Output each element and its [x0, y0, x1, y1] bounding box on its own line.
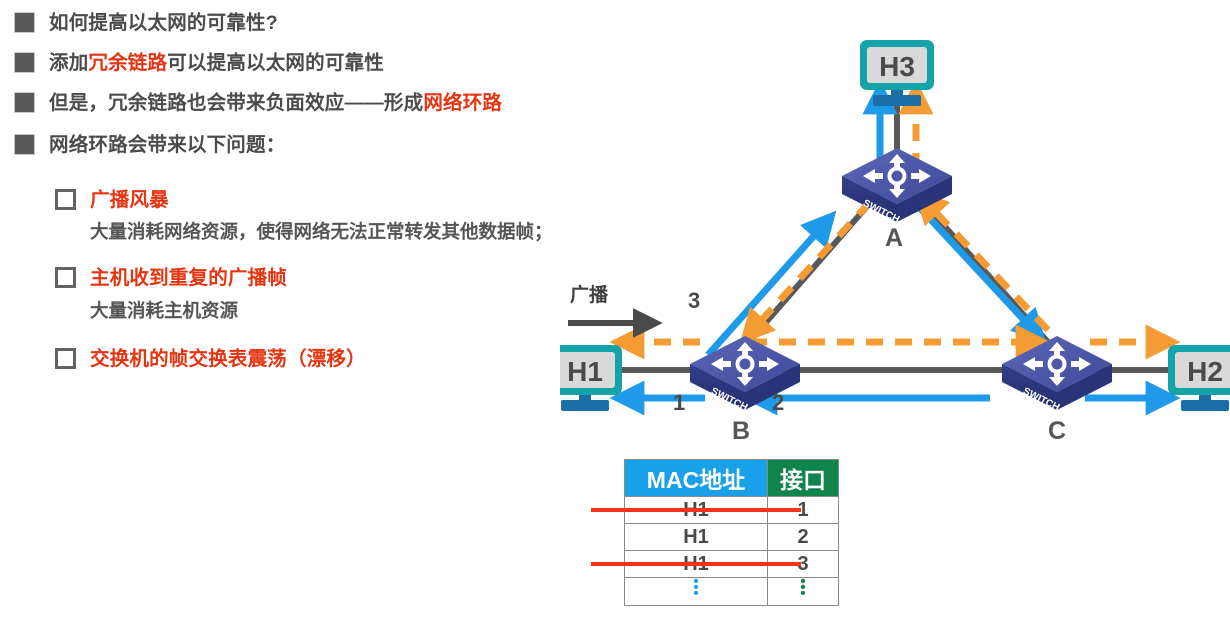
- bullet-item-2: 但是，冗余链路也会带来负面效应——形成网络环路: [14, 92, 502, 114]
- network-diagram: H3 H1 H2: [560, 30, 1230, 470]
- switch-b-label: B: [732, 417, 750, 446]
- bullet-text-2-highlight: 网络环路: [423, 92, 502, 114]
- bullet-text-1: 添加冗余链路可以提高以太网的可靠性: [49, 52, 384, 74]
- bullet-text-1-highlight: 冗余链路: [88, 52, 167, 74]
- host-h1-label: H1: [567, 356, 603, 387]
- switch-c-label: C: [1048, 417, 1066, 446]
- bullet-text-1-part-a: 添加: [49, 52, 88, 74]
- table-row: H1 3: [625, 551, 839, 578]
- vertical-ellipsis-icon: •••: [693, 579, 698, 597]
- sub-item-0: 广播风暴: [55, 189, 169, 211]
- sub-item-1-detail-row: 大量消耗主机资源: [55, 300, 238, 322]
- bullet-item-0: 如何提高以太网的可靠性?: [14, 12, 278, 34]
- filled-square-icon: [14, 92, 35, 113]
- host-h2: H2: [1168, 345, 1230, 411]
- cell-port: 3: [768, 551, 839, 578]
- table-row: H1 1: [625, 497, 839, 524]
- table-row: H1 2: [625, 524, 839, 551]
- port-label-3: 3: [688, 288, 700, 314]
- port-label-1: 1: [673, 390, 685, 416]
- switch-c: SWITCH: [1002, 336, 1112, 414]
- cell-mac-text: H1: [683, 499, 709, 521]
- port-label-2: 2: [772, 390, 784, 416]
- cell-mac-text: H1: [683, 553, 709, 575]
- cell-port-ellipsis: •••: [768, 578, 839, 606]
- sub-item-0-detail-row: 大量消耗网络资源，使得网络无法正常转发其他数据帧；: [55, 221, 553, 243]
- sub-item-1: 主机收到重复的广播帧: [55, 267, 287, 289]
- mac-address-table: MAC地址 接口 H1 1 H1 2: [624, 459, 839, 606]
- cell-mac: H1: [625, 524, 768, 551]
- header-interface: 接口: [768, 460, 839, 497]
- cell-port-text: 3: [797, 553, 808, 575]
- cell-port: 2: [768, 524, 839, 551]
- sub-item-2-title: 交换机的帧交换表震荡（漂移）: [90, 348, 366, 370]
- cell-port-text: 1: [797, 499, 808, 521]
- header-mac-address: MAC地址: [625, 460, 768, 497]
- bullet-text-1-part-b: 可以提高以太网的可靠性: [167, 52, 384, 74]
- sub-item-2: 交换机的帧交换表震荡（漂移）: [55, 348, 366, 370]
- slide-root: 如何提高以太网的可靠性? 添加冗余链路可以提高以太网的可靠性 但是，冗余链路也会…: [0, 0, 1230, 626]
- bullet-item-1: 添加冗余链路可以提高以太网的可靠性: [14, 52, 384, 74]
- bullet-list: 如何提高以太网的可靠性? 添加冗余链路可以提高以太网的可靠性 但是，冗余链路也会…: [0, 0, 630, 420]
- bullet-text-2-part-a: 但是，冗余链路也会带来负面效应——形成: [49, 92, 423, 114]
- cell-mac-ellipsis: •••: [625, 578, 768, 606]
- cell-port: 1: [768, 497, 839, 524]
- filled-square-icon: [14, 134, 35, 155]
- broadcast-label: 广播: [570, 280, 608, 307]
- hollow-square-icon: [55, 189, 76, 210]
- sub-item-1-title: 主机收到重复的广播帧: [90, 267, 287, 289]
- sub-item-1-detail: 大量消耗主机资源: [90, 300, 238, 322]
- host-h3-label: H3: [879, 51, 915, 82]
- sub-item-0-title: 广播风暴: [90, 189, 169, 211]
- vertical-ellipsis-icon: •••: [800, 579, 805, 597]
- host-h2-label: H2: [1187, 356, 1223, 387]
- filled-square-icon: [14, 12, 35, 33]
- bullet-text-3: 网络环路会带来以下问题：: [49, 134, 285, 156]
- bullet-item-3: 网络环路会带来以下问题：: [14, 134, 285, 156]
- table-header-row: MAC地址 接口: [625, 460, 839, 497]
- bullet-text-2: 但是，冗余链路也会带来负面效应——形成网络环路: [49, 92, 502, 114]
- sub-item-0-detail: 大量消耗网络资源，使得网络无法正常转发其他数据帧；: [90, 221, 553, 243]
- cell-mac: H1: [625, 551, 768, 578]
- host-h3: H3: [860, 40, 934, 106]
- host-h1: H1: [560, 345, 622, 411]
- filled-square-icon: [14, 52, 35, 73]
- table-row: ••• •••: [625, 578, 839, 606]
- hollow-square-icon: [55, 267, 76, 288]
- hollow-square-icon: [55, 348, 76, 369]
- switch-a-label: A: [885, 224, 903, 253]
- cell-mac: H1: [625, 497, 768, 524]
- bullet-text-0: 如何提高以太网的可靠性?: [49, 12, 278, 34]
